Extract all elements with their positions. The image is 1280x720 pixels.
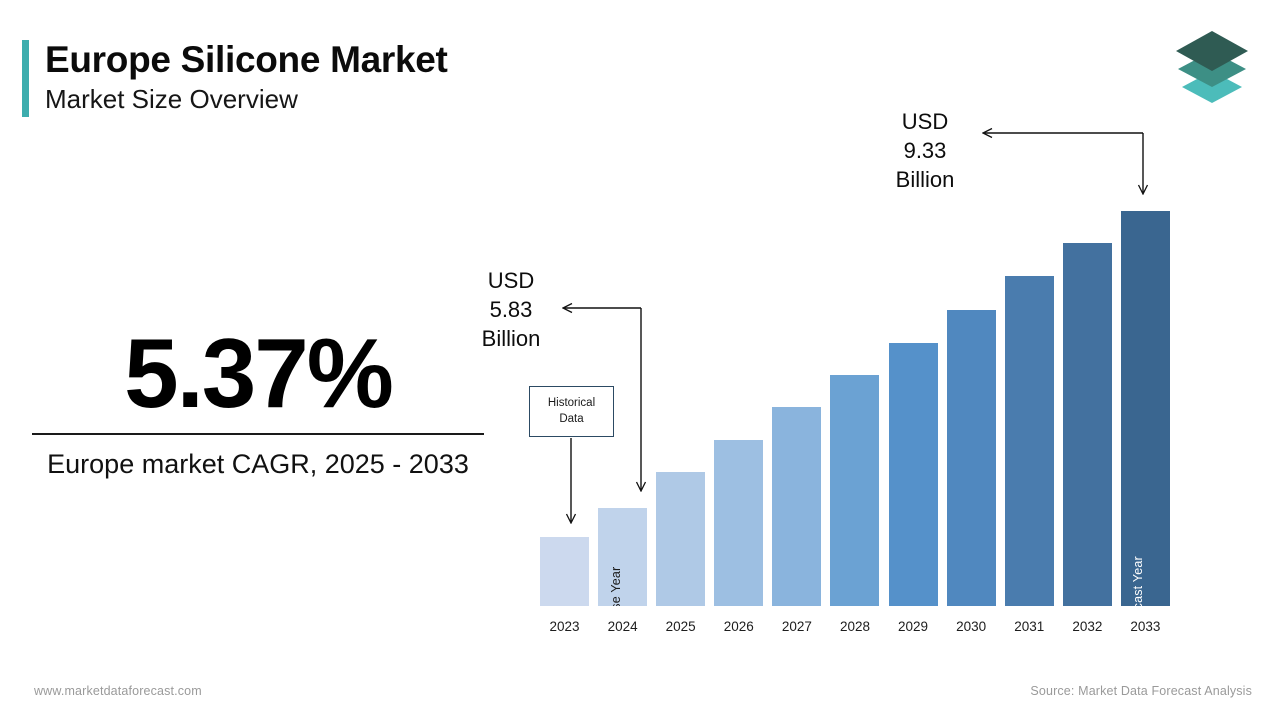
callout-forecast-year-value: USD 9.33 Billion: [866, 107, 984, 194]
x-axis-tick-2032: 2032: [1063, 619, 1112, 634]
bar-slot-2026: [714, 206, 763, 606]
x-axis-tick-2024: 2024: [598, 619, 647, 634]
historical-data-box: Historical Data: [529, 386, 614, 437]
footer-website: www.marketdataforecast.com: [34, 684, 202, 698]
x-axis-tick-2031: 2031: [1005, 619, 1054, 634]
bar-2029: [889, 343, 938, 606]
bar-2026: [714, 440, 763, 606]
historical-data-line2: Data: [559, 412, 583, 428]
cagr-value: 5.37%: [32, 322, 484, 425]
title-accent-bar: [22, 40, 29, 117]
x-axis-tick-2026: 2026: [714, 619, 763, 634]
infographic-canvas: Europe Silicone Market Market Size Overv…: [0, 0, 1280, 720]
market-size-bar-chart: Base YearForecast Year 20232024202520262…: [540, 150, 1170, 640]
footer-source: Source: Market Data Forecast Analysis: [1030, 684, 1252, 698]
x-axis-tick-2029: 2029: [889, 619, 938, 634]
bar-slot-2025: [656, 206, 705, 606]
title-block: Europe Silicone Market Market Size Overv…: [45, 40, 448, 117]
bar-slot-2033: Forecast Year: [1121, 206, 1170, 606]
bar-2030: [947, 310, 996, 606]
bar-slot-2030: [947, 206, 996, 606]
callout-base-year-value: USD 5.83 Billion: [452, 266, 570, 353]
bar-2027: [772, 407, 821, 606]
bar-2025: [656, 472, 705, 606]
x-axis-tick-2025: 2025: [656, 619, 705, 634]
header: Europe Silicone Market Market Size Overv…: [22, 40, 448, 117]
base-year-bar-label: Base Year: [609, 567, 623, 606]
bar-slot-2029: [889, 206, 938, 606]
cagr-panel: 5.37% Europe market CAGR, 2025 - 2033: [32, 322, 484, 483]
cagr-divider: [32, 433, 484, 435]
page-subtitle: Market Size Overview: [45, 83, 448, 117]
x-axis-tick-2028: 2028: [830, 619, 879, 634]
bar-slot-2028: [830, 206, 879, 606]
bars-container: Base YearForecast Year: [540, 206, 1170, 606]
layers-logo: [1170, 27, 1254, 107]
bar-2032: [1063, 243, 1112, 606]
bar-slot-2031: [1005, 206, 1054, 606]
x-axis-tick-2027: 2027: [772, 619, 821, 634]
bar-slot-2027: [772, 206, 821, 606]
forecast-year-bar-label: Forecast Year: [1131, 556, 1145, 606]
x-axis-tick-2023: 2023: [540, 619, 589, 634]
bar-2033: Forecast Year: [1121, 211, 1170, 606]
bar-2024: Base Year: [598, 508, 647, 606]
cagr-caption: Europe market CAGR, 2025 - 2033: [32, 445, 484, 483]
x-axis-tick-2030: 2030: [947, 619, 996, 634]
bar-2028: [830, 375, 879, 606]
page-title: Europe Silicone Market: [45, 40, 448, 80]
x-axis-tick-2033: 2033: [1121, 619, 1170, 634]
bar-2023: [540, 537, 589, 606]
historical-data-line1: Historical: [548, 396, 595, 412]
stacked-layers-icon: [1170, 27, 1254, 107]
bar-2031: [1005, 276, 1054, 606]
bar-slot-2032: [1063, 206, 1112, 606]
x-axis-year-labels: 2023202420252026202720282029203020312032…: [540, 619, 1170, 634]
